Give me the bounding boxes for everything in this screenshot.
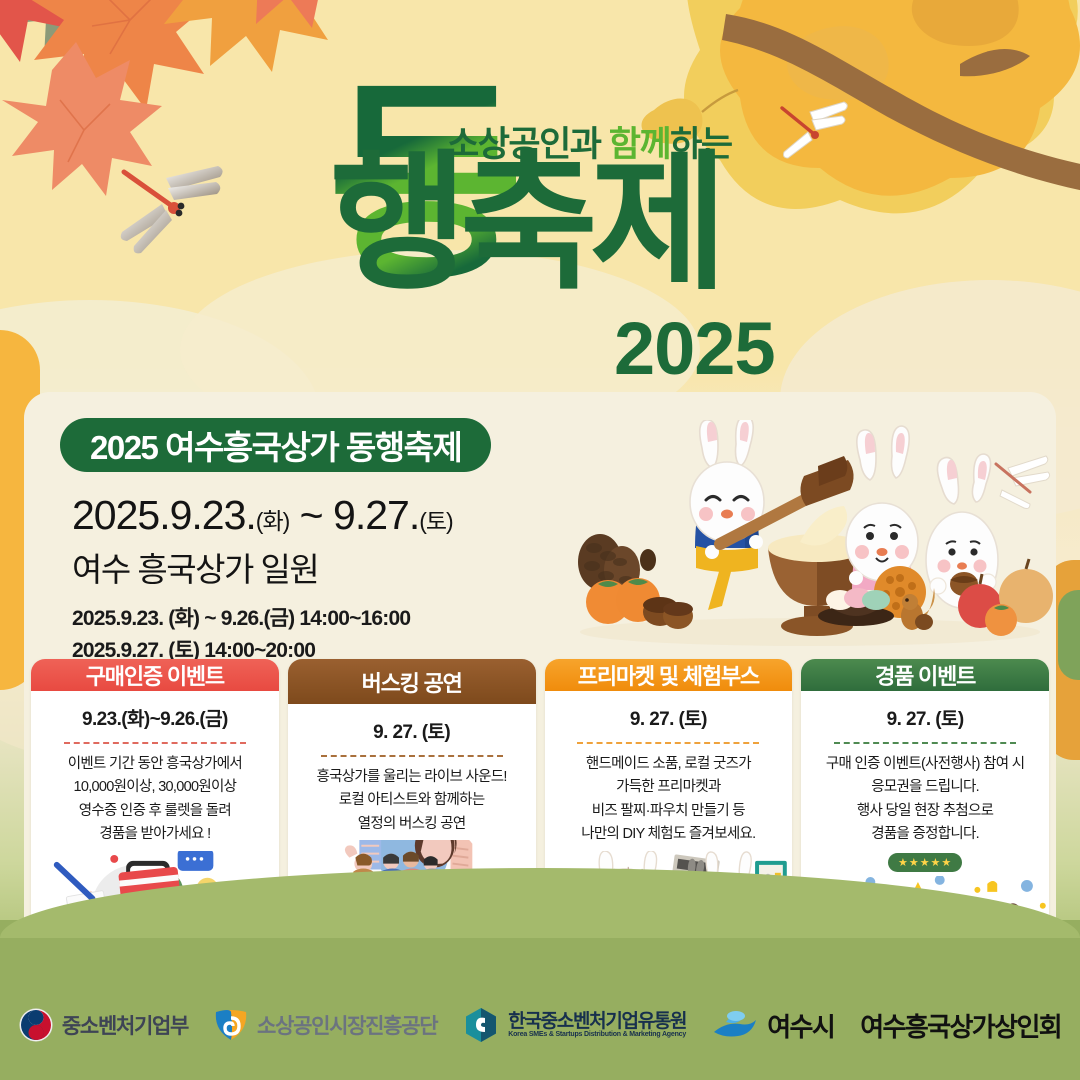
logo-merchants-association: 여수흥국상가상인회: [860, 1007, 1061, 1044]
card-header: 버스킹 공연: [288, 659, 536, 704]
footer-logos: 중소벤처기업부 소상공인시장진흥공단 한국중소벤처기업유통원 Korea SME…: [0, 970, 1080, 1080]
card-body: 핸드메이드 소품, 로컬 굿즈가 가득한 프리마켓과 비즈 팔찌·파우치 만들기…: [545, 744, 793, 847]
title-year: 2025: [614, 306, 775, 391]
sdma-hex-icon: [463, 1007, 499, 1043]
event-schedule: 2025.9.23. (화) ~ 9.26.(금) 14:00~16:00 20…: [72, 603, 453, 666]
semas-swirl-icon: [214, 1008, 248, 1042]
three-rabbits-mortar-pestle-illustration: [560, 420, 1060, 655]
logo-label: 소상공인시장진흥공단: [257, 1010, 437, 1040]
logo-mss: 중소벤처기업부: [19, 1008, 188, 1042]
korea-gov-taegeuk-icon: [19, 1008, 53, 1042]
background-stripe: [1058, 590, 1080, 680]
date-end: 9.27.: [333, 492, 419, 538]
title-block: 동 소상공인과 함께하는 행축제 2025: [0, 28, 1080, 358]
date-separator: ~: [289, 492, 333, 538]
stars-label: ★★★★★: [888, 853, 962, 872]
card-date: 9. 27. (토): [545, 704, 793, 731]
card-header: 구매인증 이벤트: [31, 659, 279, 691]
event-dates: 2025.9.23.(화) ~ 9.27.(토) 여수 흥국상가 일원 2025…: [72, 492, 453, 666]
card-date: 9. 27. (토): [288, 717, 536, 744]
logo-label-en: Korea SMEs & Startups Distribution & Mar…: [508, 1031, 686, 1038]
logo-label: 여수흥국상가상인회: [860, 1007, 1061, 1044]
logo-label: 여수시: [767, 1007, 834, 1044]
logo-label: 중소벤처기업부: [62, 1010, 188, 1040]
rating-badge: ★★★★★: [801, 853, 1049, 872]
card-body: 흥국상가를 울리는 라이브 사운드! 로컬 아티스트와 함께하는 열정의 버스킹…: [288, 757, 536, 836]
logo-semas: 소상공인시장진흥공단: [214, 1008, 437, 1042]
card-header: 프리마켓 및 체험부스: [545, 659, 793, 691]
poster-root: 동 소상공인과 함께하는 행축제 2025 2025 여수흥국상가 동행축제 2…: [0, 0, 1080, 1080]
logo-label-ko: 한국중소벤처기업유통원: [508, 1012, 686, 1032]
card-date: 9.23.(화)~9.26.(금): [31, 704, 279, 731]
title-main: 행축제: [330, 148, 720, 298]
event-name-ribbon: 2025 여수흥국상가 동행축제: [60, 418, 491, 472]
event-place: 여수 흥국상가 일원: [72, 543, 453, 591]
date-start: 2025.9.23.: [72, 492, 256, 538]
card-header: 경품 이벤트: [801, 659, 1049, 691]
card-date: 9. 27. (토): [801, 704, 1049, 731]
card-body: 구매 인증 이벤트(사전행사) 참여 시 응모권을 드립니다. 행사 당일 현장…: [801, 744, 1049, 847]
date-end-day: (토): [419, 508, 452, 534]
yeosu-city-icon: [712, 1008, 758, 1042]
card-body: 이벤트 기간 동안 흥국상가에서 10,000원이상, 30,000원이상 영수…: [31, 744, 279, 847]
date-start-day: (화): [256, 508, 289, 534]
logo-sdma: 한국중소벤처기업유통원 Korea SMEs & Startups Distri…: [463, 1007, 686, 1043]
logo-yeosu-city: 여수시: [712, 1007, 834, 1044]
event-date-range: 2025.9.23.(화) ~ 9.27.(토): [72, 492, 453, 539]
schedule-line-1: 2025.9.23. (화) ~ 9.26.(금) 14:00~16:00: [72, 603, 453, 635]
logo-label-group: 한국중소벤처기업유통원 Korea SMEs & Startups Distri…: [508, 1012, 686, 1039]
